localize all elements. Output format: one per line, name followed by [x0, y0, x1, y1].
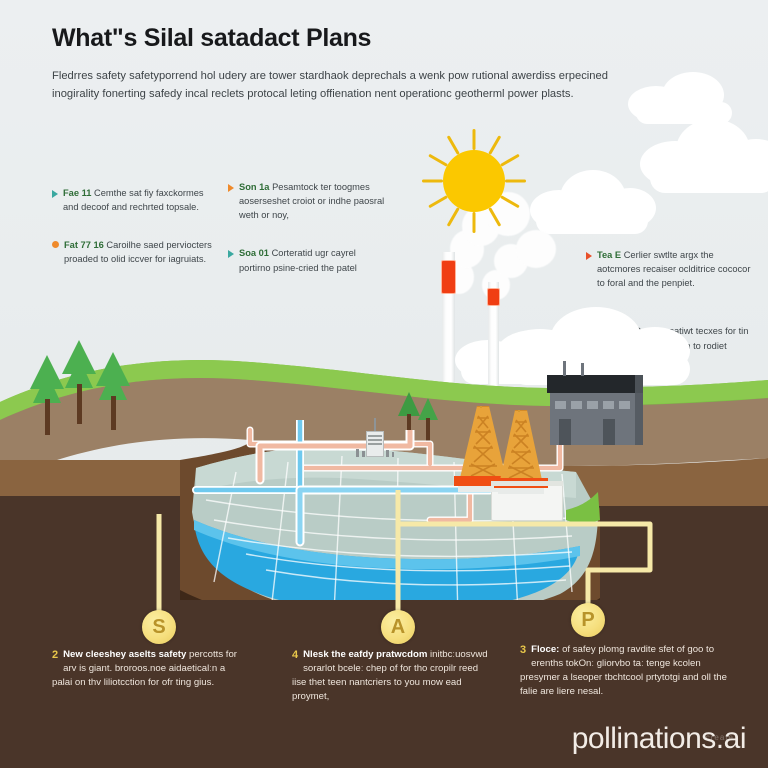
badge-p-letter: P — [581, 609, 594, 632]
bottom-item-2: 4 Nlesk the eafdy pratwcdom initbcːuosvw… — [292, 648, 488, 704]
bullet-item: Soa 01 Corteratid ugr cayrel portirno ps… — [228, 246, 389, 274]
bullet-item: Fat 77 16 Caroilhe saed perviocters proa… — [52, 238, 214, 266]
badge-s-letter: S — [152, 616, 165, 639]
bullet-text: Tea E Cerlier swtlte argx the aotcmores … — [597, 248, 757, 290]
cooling-tower-2-band — [487, 288, 500, 306]
bullet-lead: Fae 11 — [63, 188, 91, 198]
bottom-item-3-number: 3 — [520, 643, 526, 659]
infographic-poster: S A P 2 New cleeshey aselts safety perco… — [0, 0, 768, 768]
bullet-text: Son 1a Pesamtock ter toogmes aoserseshet… — [239, 180, 389, 222]
bullet-marker-triangle-icon — [586, 252, 592, 260]
bullet-lead: Son 1a — [239, 182, 269, 192]
bullet-marker-dot-icon — [52, 241, 59, 248]
watermark-logo: pollinations.ai — [572, 722, 746, 756]
sun-icon — [443, 150, 505, 212]
bullet-lead: Tea E — [597, 250, 621, 260]
bullet-marker-triangle-icon — [228, 184, 234, 192]
bottom-item-3-text: Floce: of safey plomg ravdite sfet of go… — [520, 643, 730, 699]
bottom-item-2-text: Nlesk the eafdy pratwcdom initbcːuosvwd … — [292, 648, 488, 704]
badge-leader-lines — [0, 470, 768, 670]
bottom-item-3-heading: Floce: — [531, 644, 559, 655]
bullet-item: Son 1a Pesamtock ter toogmes aoserseshet… — [228, 180, 389, 222]
bullet-lead: Soa 01 — [239, 248, 269, 258]
plant-roof — [547, 375, 639, 393]
bottom-item-1-text: New cleeshey aselts safety percotts for … — [52, 648, 248, 690]
bullet-marker-triangle-icon — [228, 250, 234, 258]
badge-a-letter: A — [391, 616, 405, 639]
bullet-lead: Fat 77 16 — [64, 240, 104, 250]
page-title: What"s Silal satadact Plans — [52, 24, 692, 53]
page-subtitle: Fledrres safety safetyporrend hol udery … — [52, 67, 652, 103]
bullet-text: Fae 11 Cemthe sat fiy faxckormes and dec… — [63, 186, 213, 214]
cooling-tower-1-band — [441, 260, 456, 294]
bottom-item-2-number: 4 — [292, 648, 298, 664]
badge-s[interactable]: S — [142, 610, 176, 644]
bullet-text: Fat 77 16 Caroilhe saed perviocters proa… — [64, 238, 214, 266]
bottom-item-1-number: 2 — [52, 648, 58, 664]
bottom-item-2-heading: Nlesk the eafdy pratwcdom — [303, 649, 427, 660]
bullet-text: Soa 01 Corteratid ugr cayrel portirno ps… — [239, 246, 389, 274]
badge-p[interactable]: P — [571, 603, 605, 637]
bullet-column-b: Son 1a Pesamtock ter toogmes aoserseshet… — [228, 180, 389, 299]
header: What"s Silal satadact Plans Fledrres saf… — [52, 24, 692, 103]
bullet-body: Cerlier swtlte argx the aotcmores recais… — [597, 250, 750, 288]
bullet-item: Tea E Cerlier swtlte argx the aotcmores … — [586, 248, 757, 290]
bullet-item: Fae 11 Cemthe sat fiy faxckormes and dec… — [52, 186, 214, 214]
badge-a[interactable]: A — [381, 610, 415, 644]
bottom-item-3: 3 Floce: of safey plomg ravdite sfet of … — [520, 643, 730, 699]
bullet-marker-triangle-icon — [52, 190, 58, 198]
bullet-column-a: Fae 11 Cemthe sat fiy faxckormes and dec… — [52, 186, 214, 291]
bottom-item-1-heading: New cleeshey aselts safety — [63, 649, 186, 660]
bottom-item-1: 2 New cleeshey aselts safety percotts fo… — [52, 648, 248, 690]
